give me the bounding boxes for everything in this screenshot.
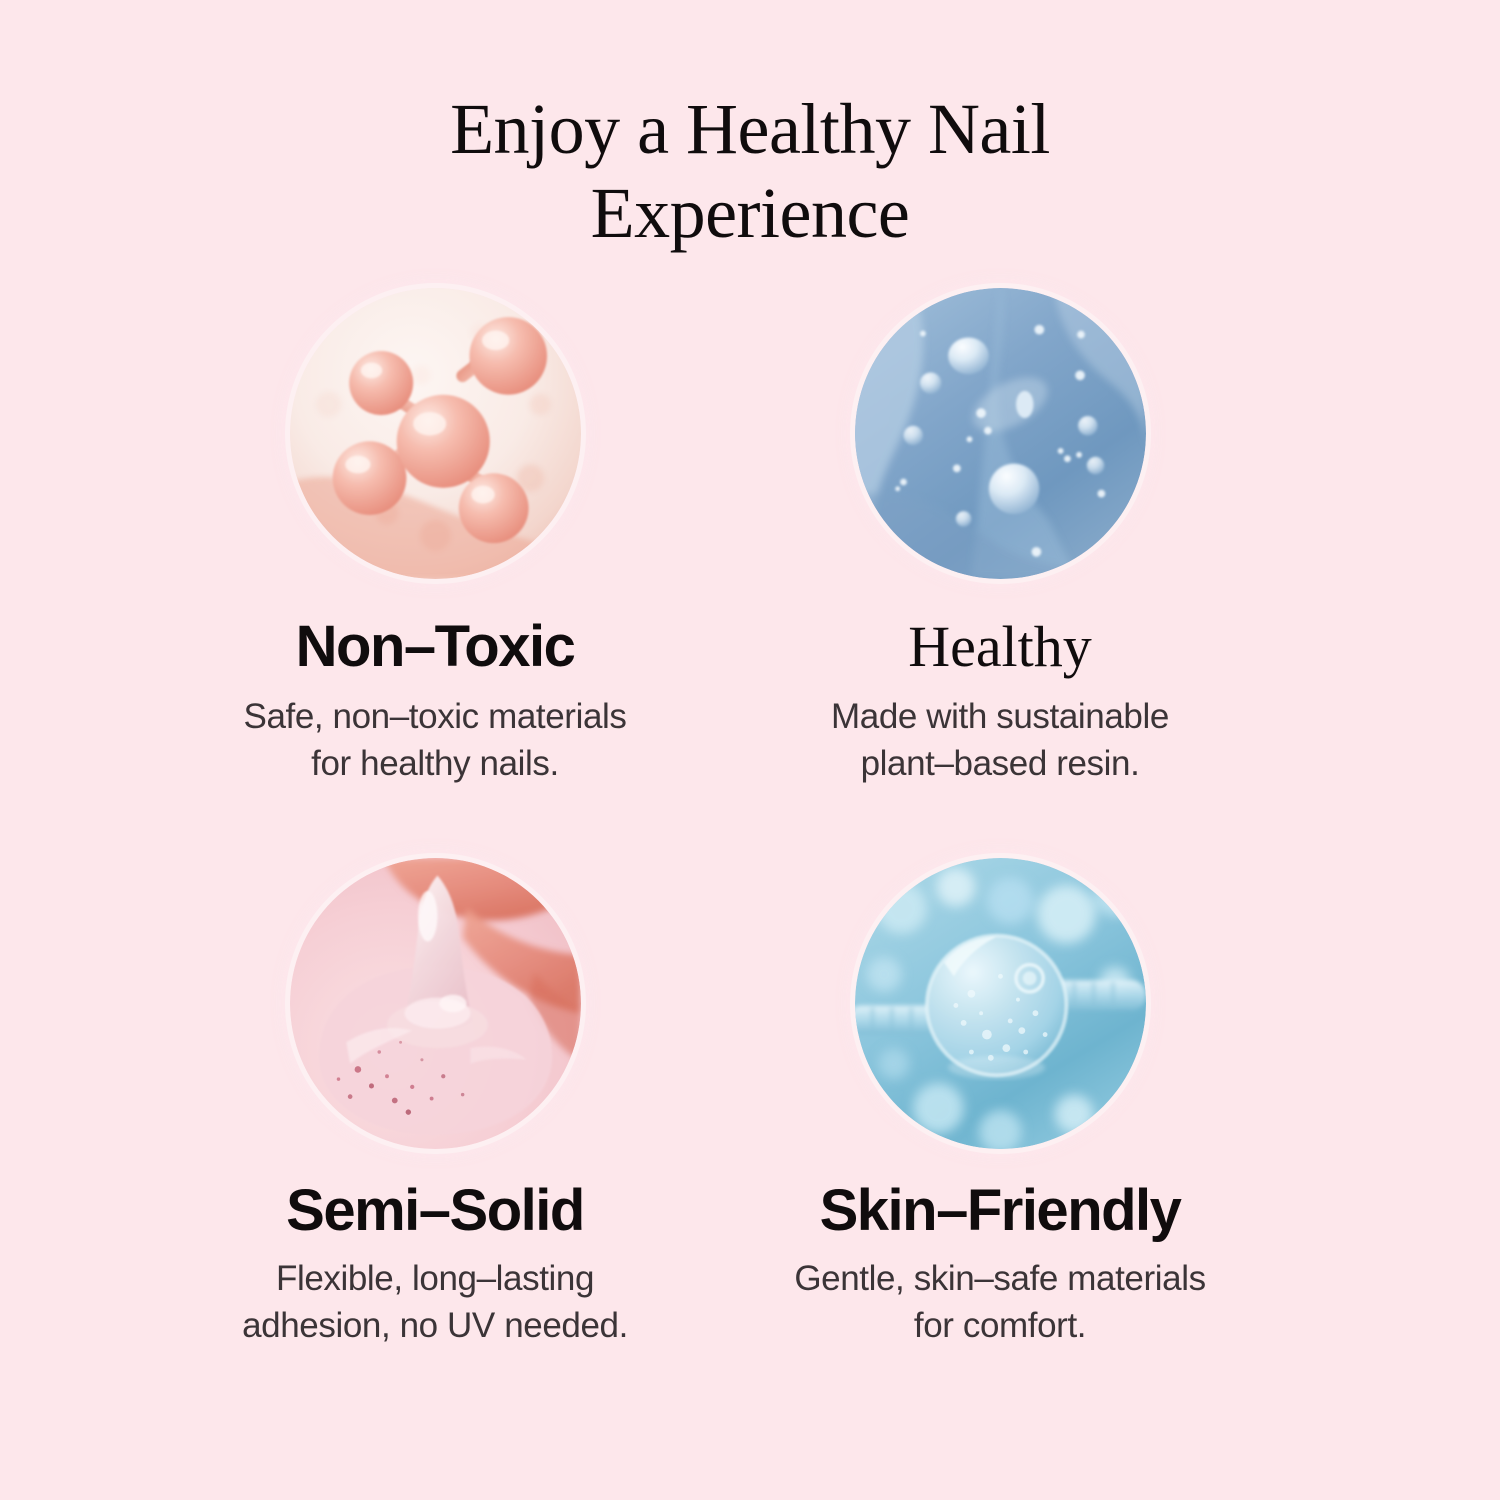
feature-image-skin-friendly	[855, 858, 1146, 1149]
feature-image-non-toxic	[290, 288, 581, 579]
feature-card-skin-friendly: Skin–Friendly Gentle, skin–safe material…	[690, 858, 1310, 1350]
feature-description-non-toxic: Safe, non–toxic materials for healthy na…	[125, 694, 745, 788]
aqua-bubble-molecule	[855, 858, 1146, 1149]
feature-image-healthy	[855, 288, 1146, 579]
feature-heading-semi-solid: Semi–Solid	[125, 1181, 745, 1242]
feature-description-skin-friendly: Gentle, skin–safe materials for comfort.	[690, 1256, 1310, 1350]
feature-heading-non-toxic: Non–Toxic	[125, 617, 745, 678]
feature-heading-healthy: Healthy	[690, 617, 1310, 678]
feature-card-non-toxic: Non–Toxic Safe, non–toxic materials for …	[125, 288, 745, 788]
feature-card-healthy: Healthy Made with sustainable plant–base…	[690, 288, 1310, 788]
feature-description-healthy: Made with sustainable plant–based resin.	[690, 694, 1310, 788]
blue-gel-water-droplets	[855, 288, 1146, 579]
feature-card-semi-solid: Semi–Solid Flexible, long–lasting adhesi…	[125, 858, 745, 1350]
feature-image-semi-solid	[290, 858, 581, 1149]
feature-description-semi-solid: Flexible, long–lasting adhesion, no UV n…	[125, 1256, 745, 1350]
pink-molecule-illustration	[290, 288, 581, 579]
pink-gel-drip	[290, 858, 581, 1149]
feature-grid: Non–Toxic Safe, non–toxic materials for …	[0, 0, 1500, 1500]
promo-feature-page: Enjoy a Healthy Nail Experience	[0, 0, 1500, 1500]
feature-heading-skin-friendly: Skin–Friendly	[690, 1181, 1310, 1242]
